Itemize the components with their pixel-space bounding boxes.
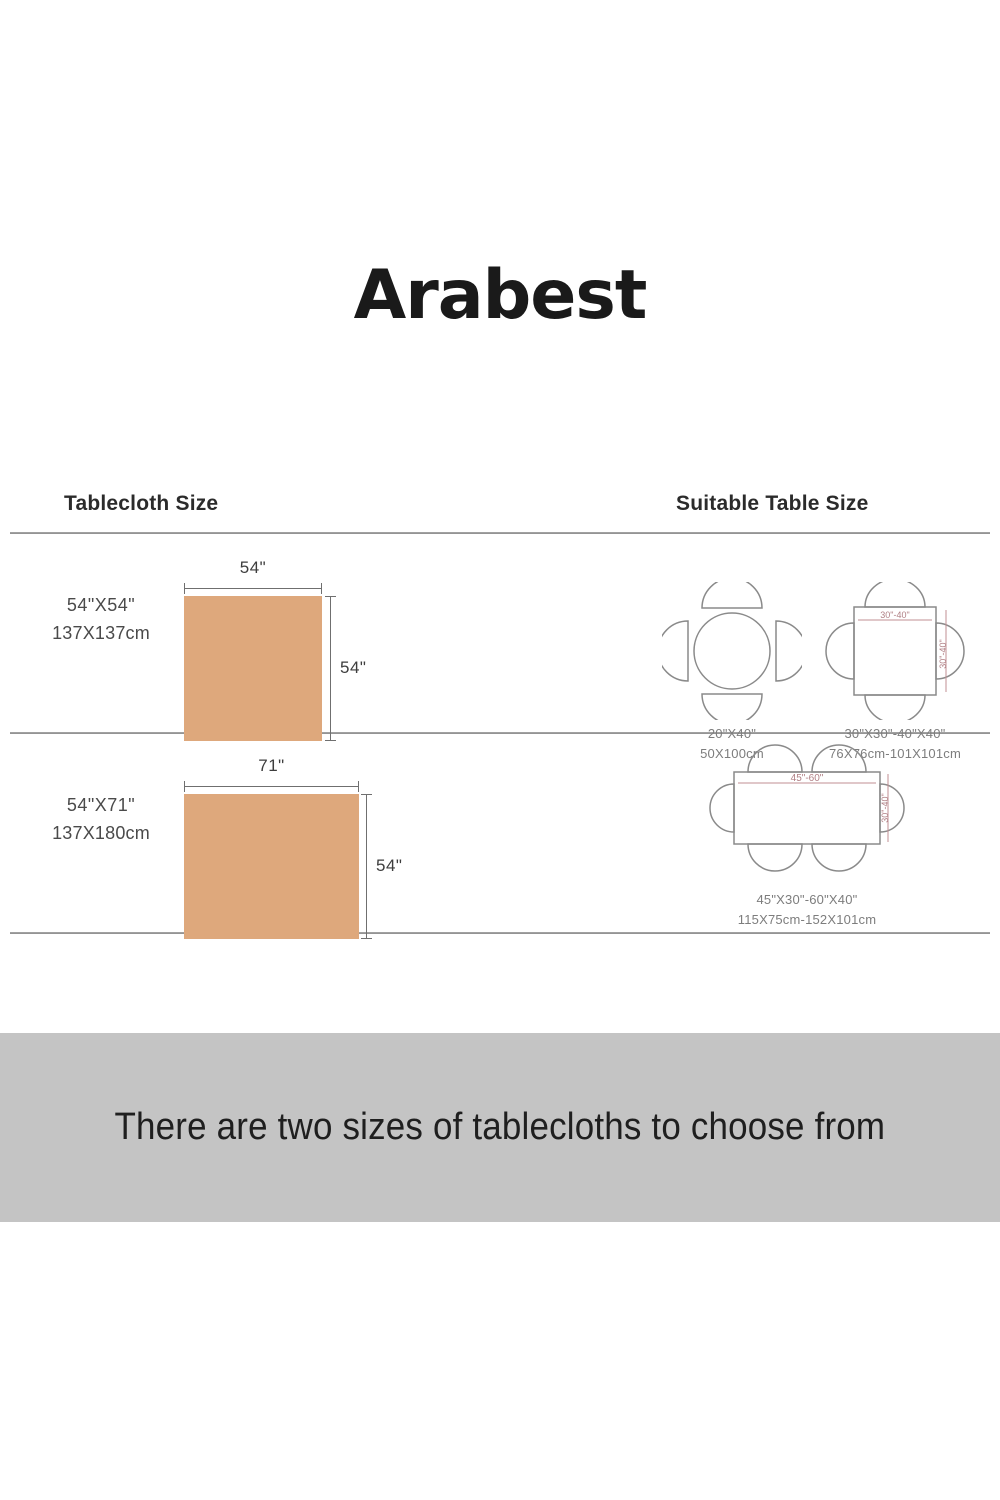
rectangle-inner-label-side: 30"-40" xyxy=(880,793,890,822)
size-label-row-2: 54"X71" 137X180cm xyxy=(26,792,176,848)
dimension-line-height xyxy=(330,596,331,741)
dimension-label-height: 54" xyxy=(340,658,366,678)
size-inches: 54"X71" xyxy=(26,792,176,820)
column-header-suitable-table-size: Suitable Table Size xyxy=(676,492,868,516)
brand-header: Arabest xyxy=(0,262,1000,330)
dimension-line-width xyxy=(184,786,359,787)
chart-row-54x54: 54"X54" 137X137cm 54" 54" 2 xyxy=(0,534,1000,732)
size-inches: 54"X54" xyxy=(26,592,176,620)
tablecloth-swatch-54x54: 54" 54" xyxy=(184,574,322,719)
square-inner-label-top: 30"-40" xyxy=(880,610,909,620)
size-cm: 137X180cm xyxy=(26,820,176,848)
chart-header-row: Tablecloth Size Suitable Table Size xyxy=(0,490,1000,532)
info-banner: There are two sizes of tablecloths to ch… xyxy=(0,1033,1000,1222)
square-table-icon: 30"-40" 30"-40" xyxy=(806,582,984,720)
dimension-label-height: 54" xyxy=(376,856,402,876)
table-diagram-rectangle: 45"-60" 30"-40" 45"X30"-60"X40" 115X75cm… xyxy=(692,738,922,929)
rectangle-inner-label-top: 45"-60" xyxy=(791,773,824,784)
size-chart: Tablecloth Size Suitable Table Size 54"X… xyxy=(0,490,1000,934)
divider-bottom xyxy=(10,932,990,934)
chart-row-54x71: 54"X71" 137X180cm 71" 54" xyxy=(0,734,1000,932)
rectangle-table-icon: 45"-60" 30"-40" xyxy=(692,738,922,886)
square-inner-label-side: 30"-40" xyxy=(938,639,948,668)
column-header-tablecloth-size: Tablecloth Size xyxy=(64,492,218,516)
brand-logo: Arabest xyxy=(0,262,1000,330)
dimension-line-width xyxy=(184,588,322,589)
banner-text: There are two sizes of tablecloths to ch… xyxy=(115,1106,886,1149)
size-cm: 137X137cm xyxy=(26,620,176,648)
size-label-row-1: 54"X54" 137X137cm xyxy=(26,592,176,648)
dimension-line-height xyxy=(366,794,367,939)
table-caption-rectangle: 45"X30"-60"X40" 115X75cm-152X101cm xyxy=(692,890,922,929)
round-table-icon xyxy=(662,582,802,720)
caption-inches: 45"X30"-60"X40" xyxy=(692,890,922,910)
tablecloth-swatch-54x71: 71" 54" xyxy=(184,772,359,917)
caption-cm: 115X75cm-152X101cm xyxy=(692,910,922,930)
swatch-fill xyxy=(184,596,322,741)
dimension-label-width: 54" xyxy=(184,558,322,578)
dimension-label-width: 71" xyxy=(184,756,359,776)
swatch-fill xyxy=(184,794,359,939)
